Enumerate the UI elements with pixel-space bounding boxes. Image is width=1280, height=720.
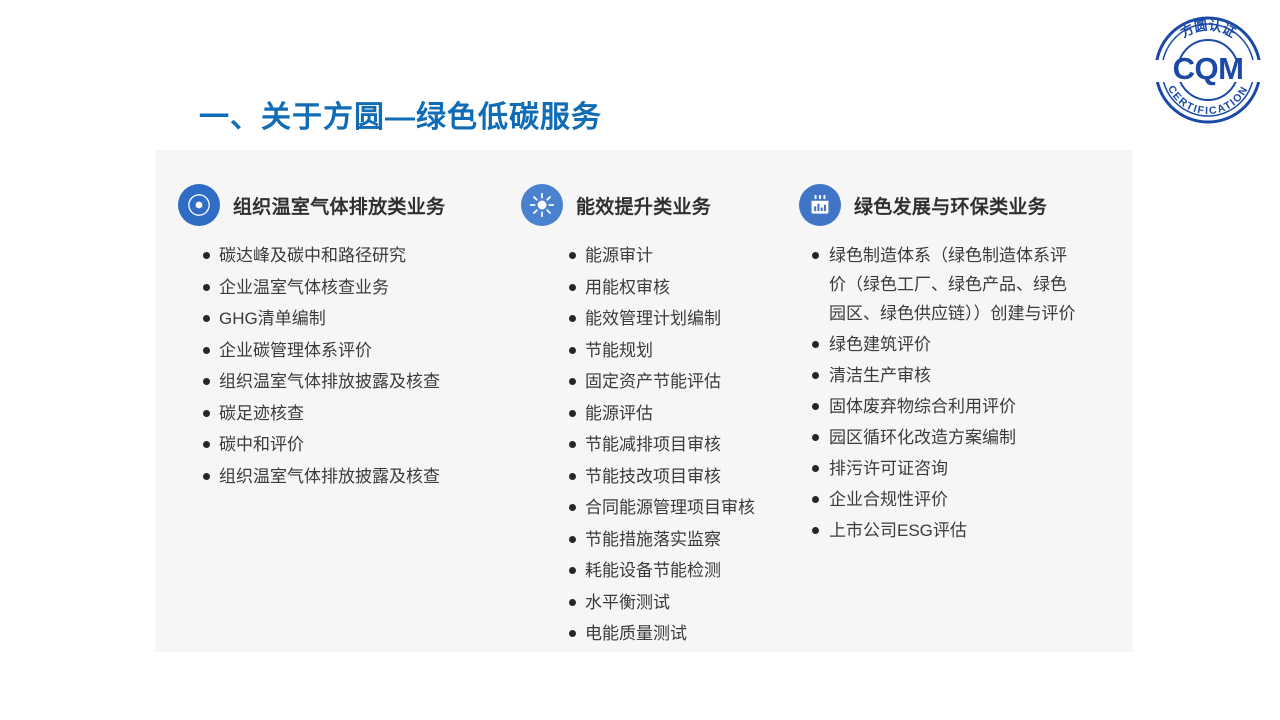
list-item: 能源审计 — [567, 241, 791, 271]
aperture-icon — [178, 184, 220, 226]
column-header: 组织温室气体排放类业务 — [178, 183, 513, 227]
service-list: 碳达峰及碳中和路径研究 企业温室气体核查业务 GHG清单编制 企业碳管理体系评价… — [201, 241, 513, 491]
cqm-certification-logo: 方圆认证 CERTIFICATION CQM — [1146, 8, 1270, 132]
list-item: 排污许可证咨询 — [810, 454, 1133, 483]
list-item: 合同能源管理项目审核 — [567, 493, 791, 523]
service-column-efficiency: 能效提升类业务 能源审计 用能权审核 能效管理计划编制 节能规划 固定资产节能评… — [513, 150, 791, 652]
logo-center-text: CQM — [1173, 51, 1244, 86]
calendar-chart-icon — [799, 184, 841, 226]
service-list: 绿色制造体系（绿色制造体系评价（绿色工厂、绿色产品、绿色园区、绿色供应链））创建… — [810, 241, 1133, 545]
list-item: 水平衡测试 — [567, 588, 791, 618]
list-item: 绿色制造体系（绿色制造体系评价（绿色工厂、绿色产品、绿色园区、绿色供应链））创建… — [810, 241, 1078, 328]
list-item: 节能规划 — [567, 336, 791, 366]
list-item: 企业温室气体核查业务 — [201, 273, 513, 303]
list-item: 电能质量测试 — [567, 619, 791, 649]
list-item: 节能减排项目审核 — [567, 430, 791, 460]
service-list: 能源审计 用能权审核 能效管理计划编制 节能规划 固定资产节能评估 能源评估 节… — [567, 241, 791, 649]
list-item: 组织温室气体排放披露及核查 — [201, 367, 513, 397]
list-item: 能效管理计划编制 — [567, 304, 791, 334]
list-item: 能源评估 — [567, 399, 791, 429]
list-item: 碳足迹核查 — [201, 399, 513, 429]
services-columns: 组织温室气体排放类业务 碳达峰及碳中和路径研究 企业温室气体核查业务 GHG清单… — [155, 150, 1133, 652]
list-item: 节能措施落实监察 — [567, 525, 791, 555]
service-column-ghg: 组织温室气体排放类业务 碳达峰及碳中和路径研究 企业温室气体核查业务 GHG清单… — [155, 150, 513, 652]
column-header: 绿色发展与环保类业务 — [799, 183, 1133, 227]
column-title: 能效提升类业务 — [576, 192, 711, 219]
list-item: 绿色建筑评价 — [810, 330, 1133, 359]
list-item: 组织温室气体排放披露及核查 — [201, 462, 513, 492]
column-title: 绿色发展与环保类业务 — [854, 192, 1047, 219]
list-item: 用能权审核 — [567, 273, 791, 303]
list-item: 上市公司ESG评估 — [810, 516, 1133, 545]
slide-canvas: 方圆认证 CERTIFICATION CQM 一、关于方圆—绿色低碳服务 — [0, 0, 1280, 720]
list-item: 碳中和评价 — [201, 430, 513, 460]
list-item: 碳达峰及碳中和路径研究 — [201, 241, 513, 271]
page-title: 一、关于方圆—绿色低碳服务 — [199, 92, 602, 136]
list-item: 固体废弃物综合利用评价 — [810, 392, 1133, 421]
list-item: 园区循环化改造方案编制 — [810, 423, 1133, 452]
list-item: GHG清单编制 — [201, 304, 513, 334]
list-item: 耗能设备节能检测 — [567, 556, 791, 586]
list-item: 节能技改项目审核 — [567, 462, 791, 492]
list-item: 固定资产节能评估 — [567, 367, 791, 397]
list-item: 清洁生产审核 — [810, 361, 1133, 390]
service-column-green: 绿色发展与环保类业务 绿色制造体系（绿色制造体系评价（绿色工厂、绿色产品、绿色园… — [791, 150, 1133, 652]
sun-icon — [521, 184, 563, 226]
list-item: 企业合规性评价 — [810, 485, 1133, 514]
column-header: 能效提升类业务 — [521, 183, 791, 227]
list-item: 企业碳管理体系评价 — [201, 336, 513, 366]
column-title: 组织温室气体排放类业务 — [233, 192, 445, 219]
services-panel: 组织温室气体排放类业务 碳达峰及碳中和路径研究 企业温室气体核查业务 GHG清单… — [155, 150, 1133, 652]
